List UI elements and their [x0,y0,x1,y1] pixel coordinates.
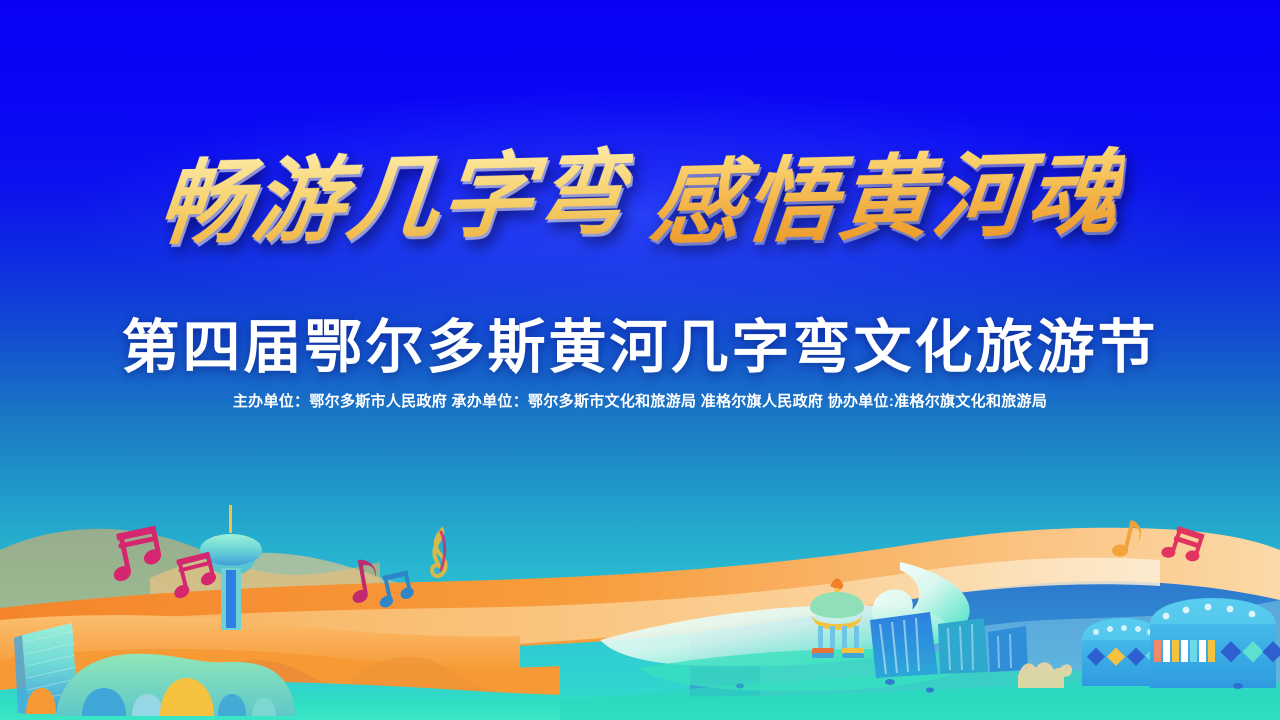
scenery-illustration [0,490,1280,720]
music-note-treble-clef [432,530,446,576]
camel [1018,662,1072,688]
festival-poster: 畅游几字弯 感悟黄河魂 第四届鄂尔多斯黄河几字弯文化旅游节 主办单位：鄂尔多斯市… [0,0,1280,720]
organizer-credits: 主办单位：鄂尔多斯市人民政府 承办单位：鄂尔多斯市文化和旅游局 准格尔旗人民政府… [0,390,1280,411]
yurt-stripe-band [1154,640,1215,662]
headline-calligraphy: 畅游几字弯 感悟黄河魂 [0,150,1280,247]
page-title: 第四届鄂尔多斯黄河几字弯文化旅游节 [0,300,1280,384]
headline-phrase-1: 畅游几字弯 [154,144,635,252]
yurt-diamond-band-large [1220,641,1280,662]
headline-phrase-2: 感悟黄河魂 [646,144,1127,252]
mongolian-yurt-large [1150,598,1280,688]
